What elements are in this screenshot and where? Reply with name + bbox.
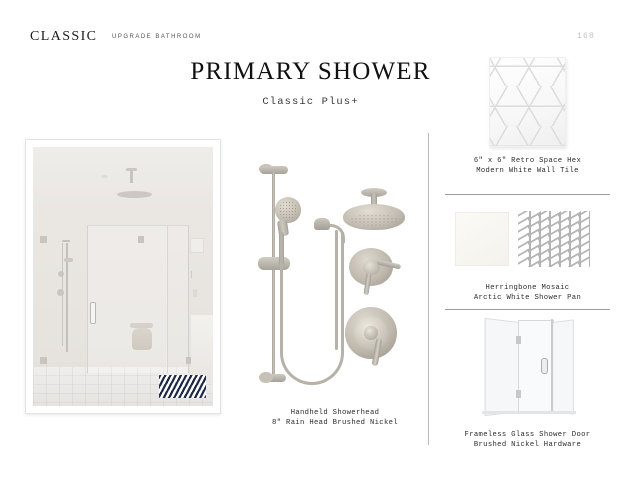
shower-hose-riser — [335, 230, 338, 350]
room-photo-frame — [25, 139, 221, 414]
brand-logo: CLASSIC — [30, 29, 97, 45]
center-product-caption: Handheld Showerhead 8" Rain Head Brushed… — [240, 408, 430, 428]
handheld-showerhead-face — [275, 197, 301, 223]
center-caption-line-2: 8" Rain Head Brushed Nickel — [240, 418, 430, 428]
right-item-1-line-2: Modern White Wall Tile — [445, 166, 610, 176]
photo-door-handle — [90, 302, 96, 324]
hose-wall-outlet — [314, 218, 330, 230]
photo-glass-clip-a — [40, 236, 47, 243]
photo-handheld-head — [64, 258, 73, 262]
arctic-white-paint-swatch — [455, 212, 509, 266]
photo-glass-clip-b — [40, 357, 47, 364]
slidebar-rail — [272, 172, 275, 377]
herringbone-mosaic-swatch — [518, 211, 590, 267]
door-hinge-lower — [516, 390, 521, 398]
photo-sconce-arm — [191, 271, 193, 278]
photo-shower-stool — [132, 328, 152, 350]
brushed-nickel-shower-fixtures — [246, 152, 416, 397]
photo-towel — [191, 315, 213, 382]
door-center-panel — [518, 320, 554, 414]
bathroom-shower-photo — [33, 147, 213, 406]
right-item-2-caption: Herringbone Mosaic Arctic White Shower P… — [445, 283, 610, 303]
right-item-1-caption: 6" x 6" Retro Space Hex Modern White Wal… — [445, 156, 610, 176]
photo-soap-bottle — [193, 289, 197, 297]
right-item-3-line-2: Brushed Nickel Hardware — [445, 440, 610, 450]
column-divider — [428, 133, 429, 445]
door-right-panel — [552, 319, 574, 414]
page-number: 168 — [577, 32, 595, 41]
right-divider-1 — [445, 194, 610, 195]
door-left-panel — [485, 318, 519, 416]
section-label: UPGRADE BATHROOM — [112, 34, 202, 40]
photo-glass-return-panel — [166, 225, 189, 374]
photo-striped-bath-mat — [159, 375, 206, 398]
right-item-2-line-2: Arctic White Shower Pan — [445, 293, 610, 303]
photo-glass-door — [87, 225, 168, 374]
right-item-1-line-1: 6" x 6" Retro Space Hex — [445, 156, 610, 166]
door-mullion — [551, 319, 553, 413]
photo-rainhead-disc — [117, 191, 152, 198]
presentation-slide: CLASSIC UPGRADE BATHROOM 168 PRIMARY SHO… — [0, 0, 621, 480]
door-threshold — [482, 411, 576, 414]
center-caption-line-1: Handheld Showerhead — [240, 408, 430, 418]
slidebar-bottom-cap — [259, 372, 273, 383]
rain-showerhead — [343, 204, 405, 230]
right-item-3-line-1: Frameless Glass Shower Door — [445, 430, 610, 440]
door-pull-handle — [541, 358, 548, 374]
right-divider-2 — [445, 309, 610, 310]
photo-ceiling — [33, 147, 213, 217]
photo-glass-clip-c — [138, 236, 144, 243]
white-hex-wall-tile-swatch — [489, 57, 566, 147]
frameless-glass-shower-door-image — [478, 318, 578, 416]
photo-rainhead-stem — [130, 170, 133, 183]
photo-wall-sconce — [190, 238, 204, 253]
right-item-3-caption: Frameless Glass Shower Door Brushed Nick… — [445, 430, 610, 450]
right-item-2-line-1: Herringbone Mosaic — [445, 283, 610, 293]
door-hinge-upper — [516, 336, 521, 344]
